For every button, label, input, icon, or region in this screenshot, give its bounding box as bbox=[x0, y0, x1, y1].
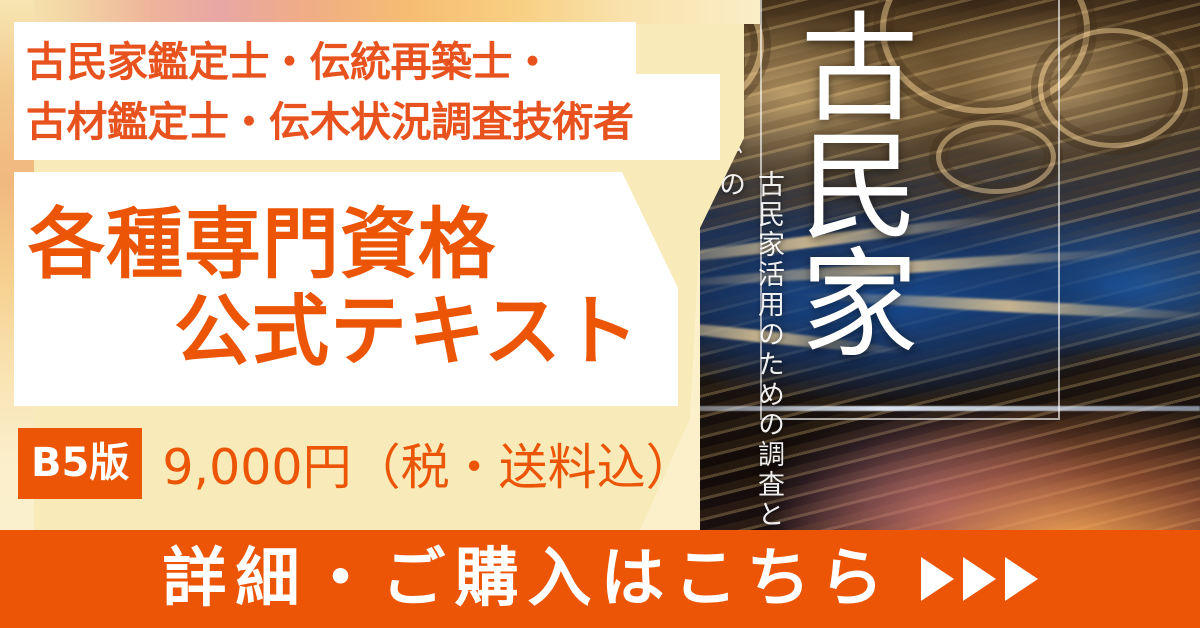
triangle-right-icon bbox=[963, 557, 996, 601]
main-title-line-2: 公式テキスト bbox=[14, 291, 678, 374]
triangle-right-icon bbox=[1005, 557, 1038, 601]
main-title: 各種専門資格 公式テキスト bbox=[14, 172, 678, 406]
cta-bar[interactable]: 詳細・ご購入はこちら bbox=[0, 530, 1200, 628]
qualification-heading: 古民家鑑定士・伝統再築士・ 古材鑑定士・伝木状況調査技術者 bbox=[20, 26, 720, 158]
cta-label: 詳細・ご購入はこちら bbox=[163, 547, 893, 611]
warm-gradient-strip-top bbox=[0, 0, 760, 24]
main-title-line-1: 各種専門資格 bbox=[14, 204, 678, 287]
price-row: B5版 9,000円（税・送料込） bbox=[18, 428, 695, 499]
format-badge: B5版 bbox=[18, 428, 142, 499]
cover-title: 古民家 bbox=[790, 6, 920, 436]
price-text: 9,000円（税・送料込） bbox=[162, 428, 694, 499]
heading-line-1: 古民家鑑定士・伝統再築士・ bbox=[26, 32, 720, 92]
cta-arrows bbox=[921, 557, 1038, 601]
wood-swirl-ornament bbox=[1038, 28, 1188, 148]
promo-banner: 伝統構法 古民家活用のための調査と再生の 古民家 古民家鑑定士・伝統再築士・ 古… bbox=[0, 0, 1200, 628]
triangle-right-icon bbox=[921, 557, 954, 601]
heading-line-2: 古材鑑定士・伝木状況調査技術者 bbox=[26, 92, 720, 152]
